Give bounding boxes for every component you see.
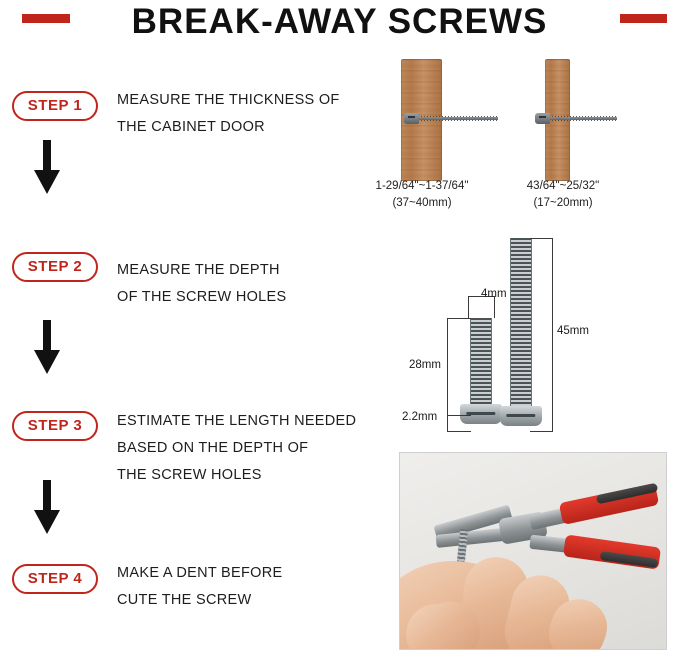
step-text-2: MEASURE THE DEPTH OF THE SCREW HOLES (117, 257, 377, 311)
thick-door-caption: 1-29/64"~1-37/64" (37~40mm) (366, 178, 478, 212)
dim-tick-28mm-bottom (447, 415, 471, 416)
arrow-down-icon-2 (34, 320, 60, 374)
dim-label-2_2mm: 2.2mm (402, 411, 437, 423)
screw-in-thin-door (535, 115, 617, 122)
step-text-3: ESTIMATE THE LENGTH NEEDED BASED ON THE … (117, 408, 377, 489)
dim-tick-45mm-top (530, 238, 553, 239)
long-screw (510, 238, 532, 430)
step-badge-3: STEP 3 (12, 411, 98, 441)
dim-line-2_2mm (447, 416, 448, 432)
page-header: BREAK-AWAY SCREWS (0, 0, 679, 48)
dim-line-45mm (552, 238, 553, 432)
screw-in-thick-door (404, 115, 498, 122)
step-text-4: MAKE A DENT BEFORE CUTE THE SCREW (117, 560, 377, 614)
thin-door-caption: 43/64"~25/32" (17~20mm) (514, 178, 612, 212)
step-badge-1: STEP 1 (12, 91, 98, 121)
dim-tick-28mm-top (447, 318, 471, 319)
short-screw (470, 318, 492, 428)
dim-label-45mm: 45mm (557, 325, 589, 337)
arrow-down-icon-1 (34, 140, 60, 194)
dim-line-28mm (447, 318, 448, 416)
step-badge-4: STEP 4 (12, 564, 98, 594)
dim-tick-45mm-bottom (530, 431, 553, 432)
dim-label-4mm: 4mm (481, 288, 507, 300)
step-text-1: MEASURE THE THICKNESS OF THE CABINET DOO… (117, 87, 377, 141)
dim-label-28mm: 28mm (409, 359, 441, 371)
step-badge-2: STEP 2 (12, 252, 98, 282)
arrow-down-icon-3 (34, 480, 60, 534)
pliers-photo (399, 452, 667, 650)
page-title: BREAK-AWAY SCREWS (0, 0, 679, 44)
dim-tick-4mm-left (468, 296, 469, 318)
dim-tick-2_2mm-bottom (447, 431, 471, 432)
